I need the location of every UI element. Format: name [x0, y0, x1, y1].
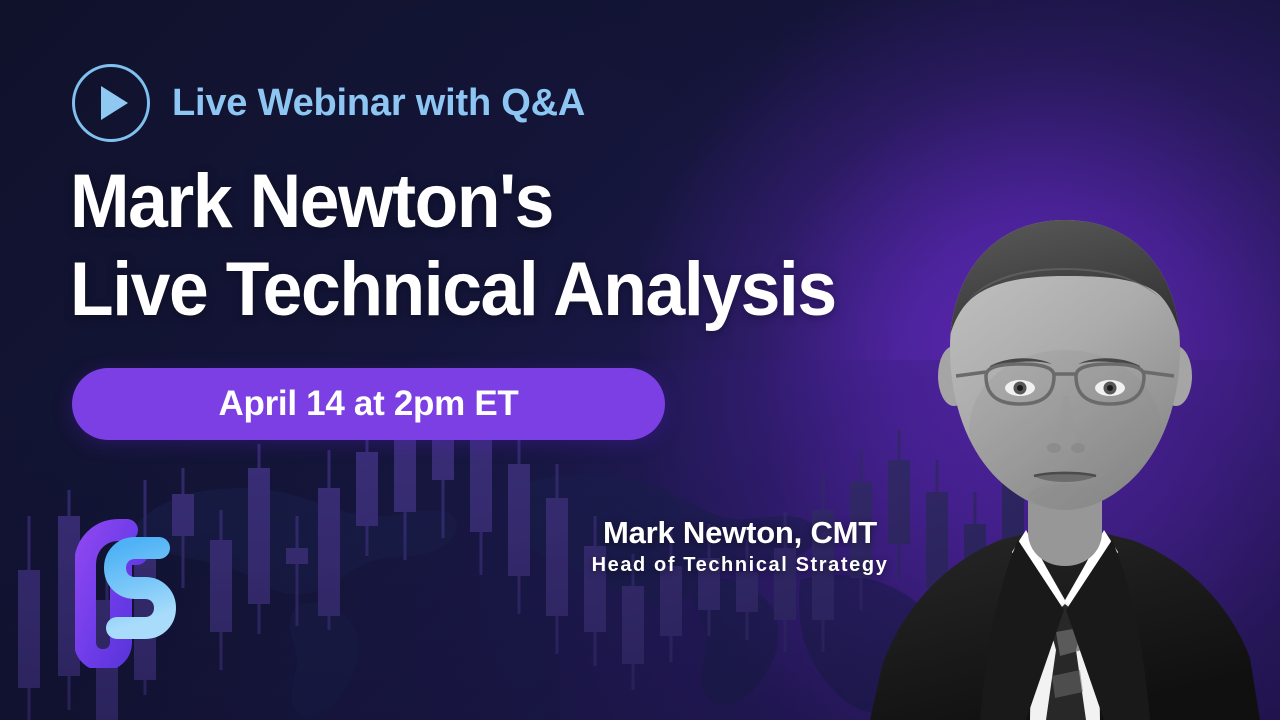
- play-circle-icon[interactable]: [72, 64, 150, 142]
- play-triangle-icon: [101, 86, 128, 120]
- portrait-head: [946, 216, 1185, 510]
- date-time-label: April 14 at 2pm ET: [219, 384, 519, 424]
- fs-monogram-logo[interactable]: [75, 518, 187, 668]
- eyebrow-row: Live Webinar with Q&A: [72, 64, 585, 142]
- date-time-button[interactable]: April 14 at 2pm ET: [72, 368, 665, 440]
- eyebrow-label: Live Webinar with Q&A: [172, 82, 585, 125]
- speaker-portrait: [850, 180, 1280, 720]
- page-title: Mark Newton's Live Technical Analysis: [70, 158, 836, 334]
- webinar-promo-banner: Live Webinar with Q&A Mark Newton's Live…: [0, 0, 1280, 720]
